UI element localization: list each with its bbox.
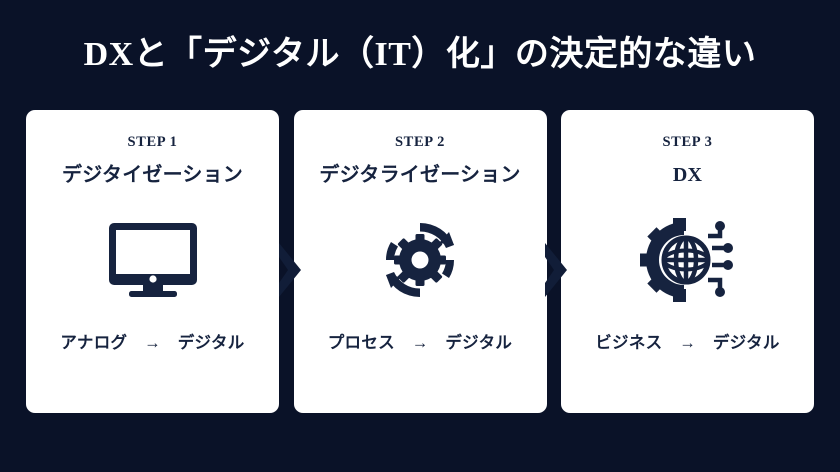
- gear-cycle-arrows-icon: [308, 189, 533, 331]
- step-title: デジタライゼーション: [319, 161, 520, 189]
- step-title: デジタイゼーション: [62, 161, 243, 189]
- step-label: STEP 1: [128, 132, 178, 152]
- slide-canvas: DXと「デジタル（IT）化」の決定的な違い STEP 1 デジタイゼーション ア…: [0, 0, 840, 472]
- desktop-monitor-icon: [40, 189, 265, 331]
- step-label: STEP 2: [395, 132, 445, 152]
- steps-row: STEP 1 デジタイゼーション アナログ → デジタル STEP 2 デジタラ…: [26, 110, 814, 413]
- page-title: DXと「デジタル（IT）化」の決定的な違い: [0, 32, 840, 78]
- chevron-right-icon: [279, 243, 301, 297]
- gear-globe-circuit-icon: [575, 189, 800, 331]
- step-card-3[interactable]: STEP 3 DX: [561, 110, 814, 413]
- chevron-right-icon: [545, 243, 567, 297]
- step-label: STEP 3: [663, 132, 713, 152]
- step-footer: アナログ → デジタル: [60, 331, 244, 355]
- step-card-1[interactable]: STEP 1 デジタイゼーション アナログ → デジタル: [26, 110, 279, 413]
- step-title: DX: [673, 161, 702, 189]
- step-footer: プロセス → デジタル: [328, 331, 512, 355]
- step-footer: ビジネス → デジタル: [595, 331, 779, 355]
- step-card-2[interactable]: STEP 2 デジタライゼーション: [294, 110, 547, 413]
